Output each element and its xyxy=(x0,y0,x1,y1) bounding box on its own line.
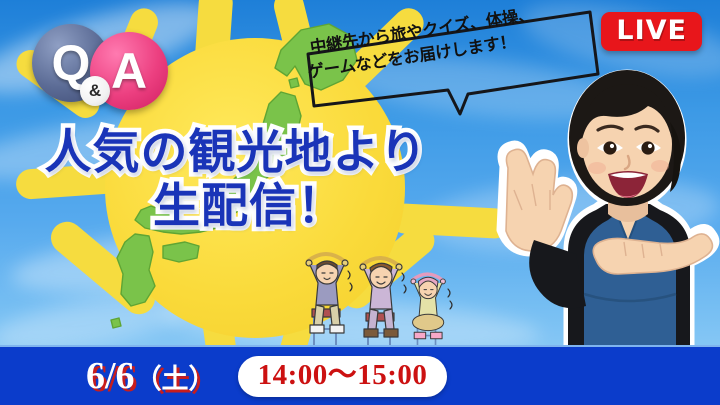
footer-bar: 6/6（土） 14:00〜15:00 xyxy=(0,345,720,405)
broadcast-time: 14:00〜15:00 xyxy=(238,356,448,397)
presenter-photo xyxy=(484,44,720,352)
exercise-person xyxy=(306,254,348,345)
broadcast-date: 6/6（土） xyxy=(86,357,216,395)
logo-ampersand-bubble: & xyxy=(80,76,110,106)
qa-logo: Q A & xyxy=(26,14,171,106)
date-weekday: （土） xyxy=(135,364,216,394)
headline-line1: 人気の観光地より xyxy=(0,128,480,179)
headline-line2: 生配信！ xyxy=(18,179,480,234)
exercise-person xyxy=(411,274,445,349)
promo-banner: Q A & LIVE 中継先から旅やクイズ、体操、 ゲームなどをお届けします！ … xyxy=(0,0,720,405)
page-title: 人気の観光地より 生配信！ xyxy=(0,128,480,234)
exercise-illustration xyxy=(300,243,480,355)
exercise-person xyxy=(360,258,402,349)
date-value: 6/6 xyxy=(86,355,135,397)
